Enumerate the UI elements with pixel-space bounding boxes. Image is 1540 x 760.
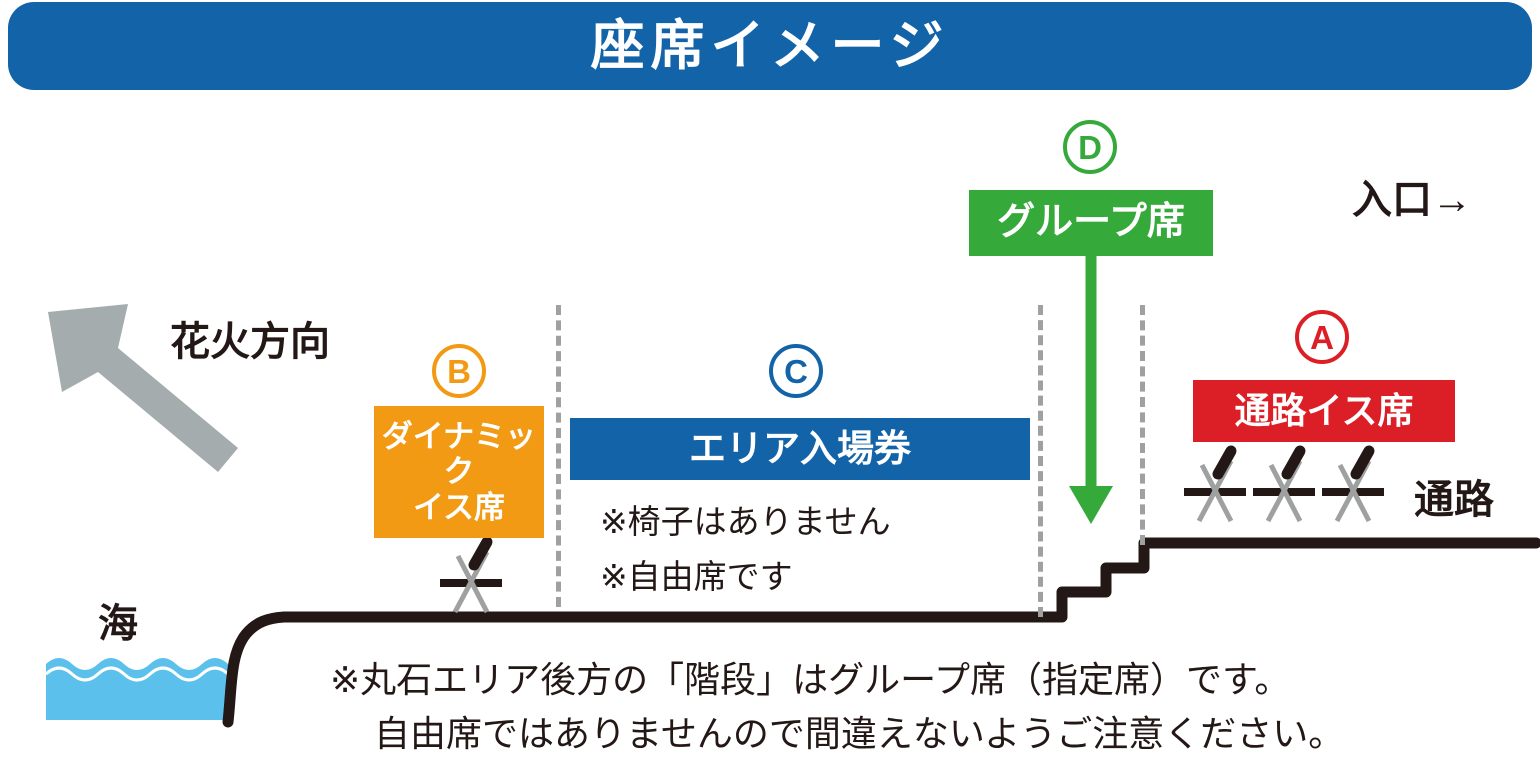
- zone-c-note-2: ※自由席です: [600, 560, 793, 593]
- sea-label: 海: [98, 604, 138, 644]
- chair-icon: [440, 542, 502, 612]
- aisle-label: 通路: [1414, 480, 1494, 520]
- chair-icon: [1322, 451, 1384, 521]
- zone-box-b: ダイナミック イス席: [374, 406, 544, 538]
- chair-icon: [1184, 451, 1246, 521]
- page-header: 座席イメージ: [8, 2, 1532, 90]
- group-seat-pointer-arrow: [1069, 256, 1113, 524]
- zone-badge-d: D: [1063, 120, 1117, 174]
- seating-diagram: 座席イメージ: [0, 0, 1540, 760]
- zone-divider-mid: [1038, 305, 1043, 617]
- zone-box-d: グループ席: [969, 190, 1213, 256]
- zone-badge-b: B: [432, 344, 486, 398]
- fireworks-direction-label: 花火方向: [170, 322, 330, 362]
- zone-badge-c: C: [769, 344, 823, 398]
- sea-water: [46, 658, 228, 720]
- zone-divider-left: [556, 305, 561, 607]
- page-title: 座席イメージ: [591, 19, 950, 73]
- footer-note-1: ※丸石エリア後方の「階段」はグループ席（指定席）です。: [330, 662, 1290, 698]
- zone-c-note-1: ※椅子はありません: [600, 505, 891, 538]
- chair-icon: [1253, 451, 1315, 521]
- zone-badge-a: A: [1295, 310, 1349, 364]
- footer-note-2: 自由席ではありませんので間違えないようご注意ください。: [374, 716, 1344, 752]
- zone-box-c: エリア入場券: [570, 418, 1030, 480]
- zone-box-b-line2: イス席: [413, 490, 505, 526]
- zone-box-b-line1: ダイナミック: [374, 419, 544, 490]
- zone-box-a: 通路イス席: [1193, 380, 1455, 442]
- entrance-label: 入口→: [1352, 180, 1472, 220]
- zone-divider-right: [1140, 305, 1145, 545]
